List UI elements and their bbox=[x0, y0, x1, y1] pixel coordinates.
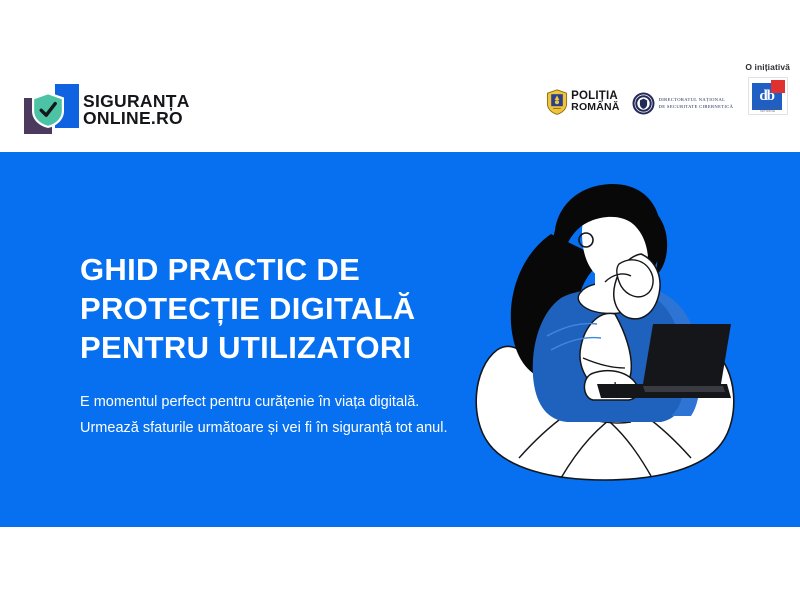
dnsc-seal-icon bbox=[632, 92, 655, 115]
shield-check-icon bbox=[24, 84, 74, 136]
politia-wordmark: POLIȚIA ROMÂNĂ bbox=[571, 91, 619, 114]
dnsc-line1: DIRECTORATUL NAȚIONAL bbox=[659, 97, 734, 104]
headline-line-3: PENTRU UTILIZATORI bbox=[80, 328, 450, 367]
politia-line2: ROMÂNĂ bbox=[571, 102, 619, 114]
politia-line1: POLIȚIA bbox=[571, 90, 618, 102]
hero-body-text: E momentul perfect pentru curățenie în v… bbox=[80, 389, 450, 441]
partner-politia-romana[interactable]: POLIȚIA ROMÂNĂ bbox=[546, 89, 619, 115]
initiative-label: O inițiativă bbox=[745, 62, 790, 72]
headline-line-1: GHID PRACTIC DE bbox=[80, 250, 450, 289]
banner-page: SIGURANȚA ONLINE.RO POLIȚIA ROMÂNĂ bbox=[0, 0, 800, 600]
hero-band: GHID PRACTIC DE PROTECȚIE DIGITALĂ PENTR… bbox=[0, 152, 800, 527]
initiative-block: O inițiativă db DIGITAL BUSINESS INITIAT… bbox=[745, 62, 790, 115]
dnsc-wordmark: DIRECTORATUL NAȚIONAL DE SECURITATE CIBE… bbox=[659, 97, 734, 110]
romanian-police-crest-icon bbox=[546, 89, 568, 115]
dbi-monogram: db bbox=[752, 83, 782, 110]
brand-name-line2: ONLINE.RO bbox=[83, 110, 190, 127]
hero-copy: GHID PRACTIC DE PROTECȚIE DIGITALĂ PENTR… bbox=[80, 250, 450, 441]
dnsc-line2: DE SECURITATE CIBERNETICĂ bbox=[659, 104, 734, 111]
brand-logo[interactable]: SIGURANȚA ONLINE.RO bbox=[24, 84, 190, 136]
shield-glyph bbox=[31, 91, 65, 129]
dbi-subtitle: DIGITAL BUSINESS INITIATIVE bbox=[749, 107, 787, 113]
page-title: GHID PRACTIC DE PROTECȚIE DIGITALĂ PENTR… bbox=[80, 250, 450, 367]
dbi-logo-icon[interactable]: db DIGITAL BUSINESS INITIATIVE bbox=[748, 77, 788, 115]
partner-dnsc[interactable]: DIRECTORATUL NAȚIONAL DE SECURITATE CIBE… bbox=[632, 92, 734, 115]
brand-wordmark: SIGURANȚA ONLINE.RO bbox=[83, 93, 190, 127]
headline-line-2: PROTECȚIE DIGITALĂ bbox=[80, 289, 450, 328]
woman-sitting-with-laptop-illustration bbox=[455, 172, 755, 502]
partner-logos: POLIȚIA ROMÂNĂ DIRECTORATUL NAȚIONAL DE … bbox=[546, 62, 790, 115]
header-bar: SIGURANȚA ONLINE.RO POLIȚIA ROMÂNĂ bbox=[0, 0, 800, 152]
footer-whitespace bbox=[0, 527, 800, 600]
